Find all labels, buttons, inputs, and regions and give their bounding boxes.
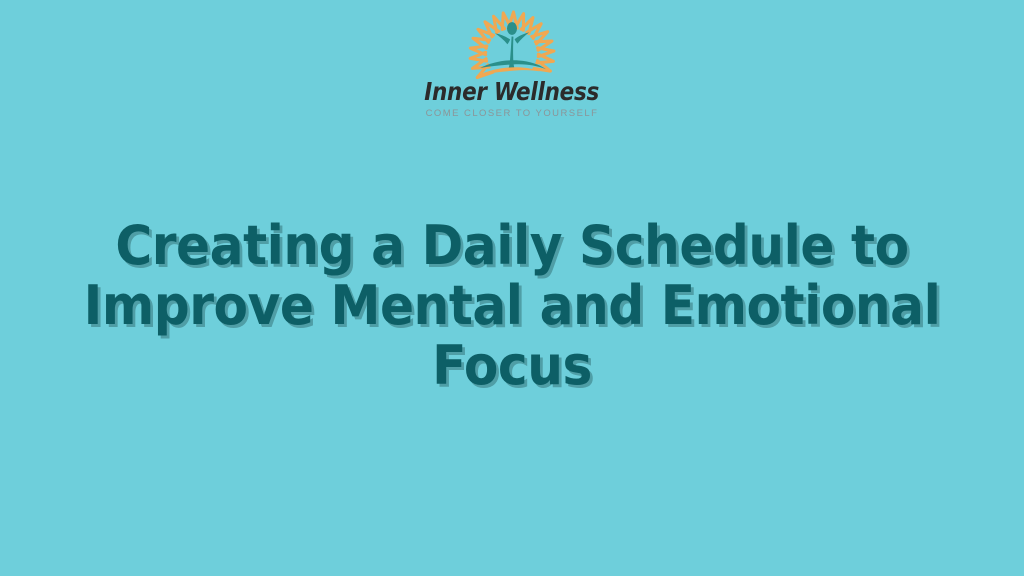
brand-tagline: COME CLOSER TO YOURSELF (426, 108, 599, 119)
brand-name: Inner Wellness (425, 79, 600, 105)
slide-title-block: Creating a Daily Schedule to Improve Men… (0, 216, 1024, 396)
title-line-2: Improve Mental and Emotional (36, 276, 988, 336)
inner-wellness-sun-figure-logo-icon (454, 2, 570, 80)
presentation-slide: Inner Wellness COME CLOSER TO YOURSELF C… (0, 0, 1024, 576)
title-line-1: Creating a Daily Schedule to (36, 216, 988, 276)
page-title: Creating a Daily Schedule to Improve Men… (36, 216, 988, 396)
brand-logo: Inner Wellness COME CLOSER TO YOURSELF (0, 2, 1024, 119)
title-line-3: Focus (36, 336, 988, 396)
